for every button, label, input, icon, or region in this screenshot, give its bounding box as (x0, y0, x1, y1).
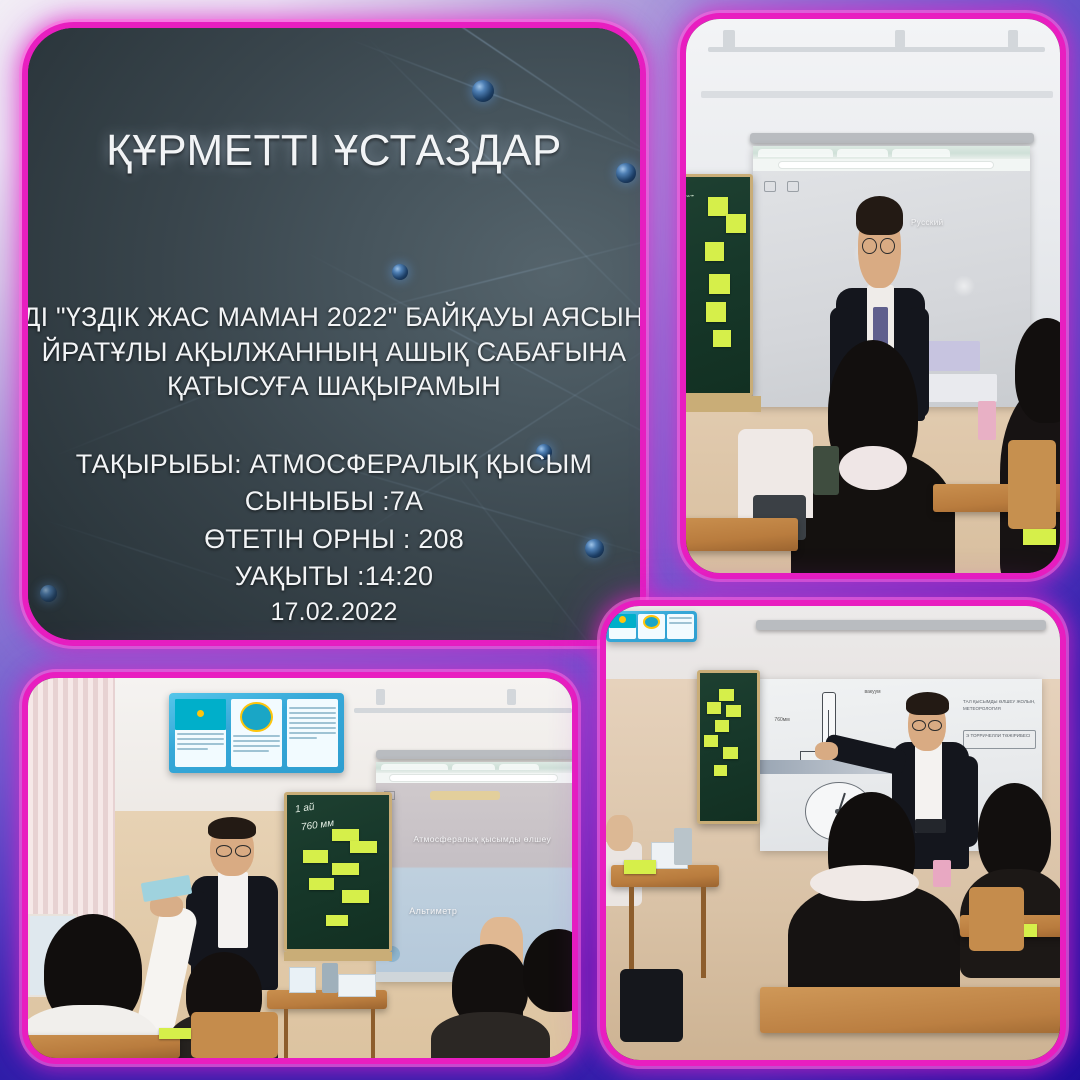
slide-note-2: Э ТОРРИЧЕЛЛИ ТӘЖІРИБЕСІ (963, 730, 1036, 749)
projector-roller (750, 133, 1034, 143)
slide-detail-class: СЫНЫБЫ :7А (28, 483, 640, 520)
sticky-note (159, 1028, 192, 1039)
projector-label: Русский (911, 218, 943, 227)
bottle (813, 446, 839, 496)
sticky-note (342, 890, 369, 902)
glasses-icon (235, 845, 251, 856)
slide-detail-room: ӨТЕТІН ОРНЫ : 208 (28, 521, 640, 558)
table-leg (701, 887, 706, 978)
ceiling-bracket (723, 30, 735, 50)
ceiling-bracket (507, 689, 516, 705)
sticky-note (309, 878, 334, 890)
sticky-note (714, 765, 728, 777)
browser-tab[interactable] (758, 149, 833, 157)
glasses-icon (912, 720, 926, 731)
table-leg (371, 1009, 375, 1058)
flag-card (175, 699, 226, 767)
kazakhstan-emblem-icon (240, 702, 272, 732)
ceiling-bracket (1008, 30, 1018, 48)
test-tube (322, 963, 338, 993)
title-slide-photo: ҚҰРМЕТТІ ҰСТАЗДАР РДІ "ҮЗДІК ЖАС МАМАН 2… (28, 28, 640, 640)
sticky-note (624, 860, 656, 874)
chair (969, 887, 1023, 951)
backpack (620, 969, 684, 1042)
table-leg (284, 1009, 288, 1058)
sticky-note (713, 330, 731, 347)
sticky-note (726, 705, 741, 717)
sticky-note (704, 735, 718, 747)
chalk-writing-line1: 1 ай (294, 801, 315, 815)
beaker (289, 967, 316, 994)
sticky-note (303, 850, 328, 862)
handsup-photo: Атмосфералық қысымды өлшеу Альтиметр 1 а… (28, 678, 572, 1058)
sticky-note (350, 841, 377, 853)
emblem-card (231, 699, 282, 767)
anthem-card (667, 614, 694, 640)
lecture-photo: Русский ⌁⌁ (686, 19, 1060, 573)
pencil-case (933, 860, 951, 887)
sticky-note (723, 747, 738, 759)
teacher-hand (815, 742, 838, 760)
glasses-icon (216, 845, 232, 856)
slide-details: ТАҚЫРЫБЫ: АТМОСФЕРАЛЫҚ ҚЫСЫМ СЫНЫБЫ :7А … (28, 446, 640, 630)
diagram-label: вакуум (865, 689, 881, 695)
browser-tab[interactable] (499, 764, 538, 771)
student-collar (810, 865, 919, 901)
slide-note-1: ТАЛ ҚЫСЫМДЫ ӨЛШЕУ ЖОЛЫН, МЕТЕОРОЛОГИЯ (963, 699, 1036, 713)
ceiling-rail (701, 91, 1053, 98)
light-glare (953, 275, 975, 297)
sticky-note (709, 274, 730, 293)
slide-body-line: ҚАТЫСУҒА ШАҚЫРАМЫН (28, 369, 640, 404)
sticky-note (1023, 529, 1057, 546)
desk (686, 518, 798, 551)
sticky-note (707, 702, 721, 714)
slide-text-layer: ҚҰРМЕТТІ ҰСТАЗДАР РДІ "ҮЗДІК ЖАС МАМАН 2… (28, 28, 640, 640)
teacher-hair (208, 817, 257, 840)
desk (760, 987, 1060, 1032)
ceiling-rail (354, 708, 572, 713)
sticky-note (332, 863, 359, 875)
barometer-photo: вакуум 760мм СФЕРА ТАЛ ҚЫСЫМДЫ ӨЛШЕУ ЖОЛ… (606, 606, 1060, 1060)
panel-barometer-photo: вакуум 760мм СФЕРА ТАЛ ҚЫСЫМДЫ ӨЛШЕУ ЖОЛ… (600, 600, 1066, 1066)
teacher-hair (906, 692, 949, 715)
chalk-writing: ⌁⌁ (686, 192, 694, 201)
teacher-shirt (218, 872, 248, 948)
student-collar (839, 446, 906, 490)
slide-body: РДІ "ҮЗДІК ЖАС МАМАН 2022" БАЙҚАУЫ АЯСЫН… (28, 300, 640, 404)
ceiling-rail (708, 47, 1045, 52)
sticky-note (332, 829, 359, 841)
projector-roller (756, 620, 1047, 630)
sticky-note (326, 915, 349, 926)
browser-tab[interactable] (381, 764, 448, 771)
projection-label: Альтиметр (409, 906, 457, 916)
panel-handsup-photo: Атмосфералық қысымды өлшеу Альтиметр 1 а… (22, 672, 578, 1064)
belt (915, 819, 947, 833)
slide-tool-icon[interactable] (764, 181, 776, 192)
chalk-tray (686, 396, 761, 413)
projector-roller (376, 750, 572, 759)
flag-card (609, 614, 636, 640)
anthem-card (287, 699, 338, 767)
student-hand (606, 815, 633, 851)
diagram-label: 760мм (774, 717, 789, 723)
projection-heading: Атмосфералық қысымды өлшеу (413, 834, 551, 844)
teacher-arm (956, 756, 979, 847)
browser-url-bar[interactable] (376, 773, 572, 783)
ceiling-bracket (895, 30, 905, 48)
slide-detail-topic: ТАҚЫРЫБЫ: АТМОСФЕРАЛЫҚ ҚЫСЫМ (28, 446, 640, 483)
desk (28, 1035, 180, 1058)
kazakhstan-flag-icon (175, 699, 226, 730)
slide-tool-icon[interactable] (787, 181, 799, 192)
slide-detail-date: 17.02.2022 (28, 595, 640, 630)
sticky-note (715, 720, 729, 732)
sticky-note (726, 214, 747, 233)
teacher-hair (856, 196, 903, 235)
browser-tab[interactable] (837, 149, 888, 157)
slide-detail-time: УАҚЫТЫ :14:20 (28, 558, 640, 595)
browser-tab-bar[interactable] (753, 146, 1030, 159)
url-input[interactable] (389, 774, 559, 782)
state-symbols-board (606, 611, 697, 643)
sticky-note (706, 302, 725, 321)
ceiling-bracket (376, 689, 385, 705)
chalk-tray (284, 952, 393, 962)
browser-tab-bar[interactable] (376, 762, 572, 773)
slide-body-line: РДІ "ҮЗДІК ЖАС МАМАН 2022" БАЙҚАУЫ АЯСЫН… (28, 300, 640, 335)
test-tube (674, 828, 692, 864)
student-head (978, 783, 1051, 883)
chalkboard (697, 670, 761, 824)
photo-collage: ҚҰРМЕТТІ ҰСТАЗДАР РДІ "ҮЗДІК ЖАС МАМАН 2… (0, 0, 1080, 1080)
chair (1008, 440, 1057, 529)
chalk-writing-line2: 760 мм (300, 817, 334, 833)
browser-tab[interactable] (452, 764, 495, 771)
chair (191, 1012, 278, 1058)
panel-lecture-photo: Русский ⌁⌁ (680, 13, 1066, 579)
slide-body-line: ЙРАТҰЛЫ АҚЫЛЖАННЫҢ АШЫҚ САБАҒЫНА (28, 335, 640, 370)
url-input[interactable] (778, 161, 994, 169)
sticky-note (705, 242, 724, 261)
glasses-icon (928, 720, 942, 731)
state-symbols-board (169, 693, 343, 773)
tray (338, 974, 376, 997)
slide-tool-pill[interactable] (430, 791, 500, 800)
glasses-icon (862, 238, 877, 255)
chalkboard: ⌁⌁ (686, 174, 753, 396)
panel-title-slide: ҚҰРМЕТТІ ҰСТАЗДАР РДІ "ҮЗДІК ЖАС МАМАН 2… (22, 22, 646, 646)
chalkboard: 1 ай 760 мм (284, 792, 393, 952)
emblem-card (638, 614, 665, 640)
browser-tab[interactable] (892, 149, 951, 157)
student-silhouette (431, 1012, 551, 1058)
slide-title: ҚҰРМЕТТІ ҰСТАЗДАР (28, 126, 640, 176)
pencil-case (978, 401, 997, 440)
sticky-note (719, 689, 734, 701)
browser-url-bar[interactable] (753, 159, 1030, 171)
